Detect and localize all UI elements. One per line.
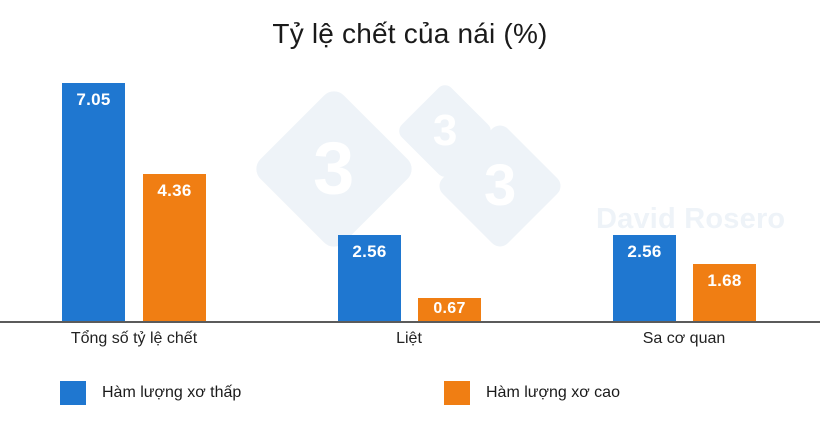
legend-item-high-fiber[interactable]: Hàm lượng xơ cao — [444, 381, 620, 405]
bar-low-fiber-lameness[interactable]: 2.56 — [338, 235, 401, 321]
chart-legend: Hàm lượng xơ thấp Hàm lượng xơ cao — [0, 379, 820, 409]
bar-low-fiber-total[interactable]: 7.05 — [62, 83, 125, 321]
bar-high-fiber-prolapse[interactable]: 1.68 — [693, 264, 756, 321]
bar-value-label: 2.56 — [338, 242, 401, 262]
category-label-total: Tổng số tỷ lệ chết — [34, 330, 234, 348]
legend-label-high-fiber: Hàm lượng xơ cao — [486, 384, 620, 402]
bar-value-label: 7.05 — [62, 90, 125, 110]
category-label-lameness: Liệt — [309, 330, 509, 348]
legend-item-low-fiber[interactable]: Hàm lượng xơ thấp — [60, 381, 241, 405]
legend-swatch-low-fiber — [60, 381, 86, 405]
bar-low-fiber-prolapse[interactable]: 2.56 — [613, 235, 676, 321]
category-label-prolapse: Sa cơ quan — [584, 330, 784, 348]
bar-value-label: 1.68 — [693, 271, 756, 291]
bar-value-label: 2.56 — [613, 242, 676, 262]
legend-label-low-fiber: Hàm lượng xơ thấp — [102, 384, 241, 402]
bar-high-fiber-lameness[interactable]: 0.67 — [418, 298, 481, 321]
plot-area: 7.05 4.36 2.56 0.67 2.56 1.68 — [0, 0, 820, 322]
bar-value-label: 0.67 — [418, 300, 481, 318]
x-axis-line — [0, 321, 820, 323]
bar-high-fiber-total[interactable]: 4.36 — [143, 174, 206, 321]
legend-swatch-high-fiber — [444, 381, 470, 405]
bar-value-label: 4.36 — [143, 181, 206, 201]
chart-container: 3 3 3 David Rosero Tỷ lệ chết của nái (%… — [0, 0, 820, 421]
